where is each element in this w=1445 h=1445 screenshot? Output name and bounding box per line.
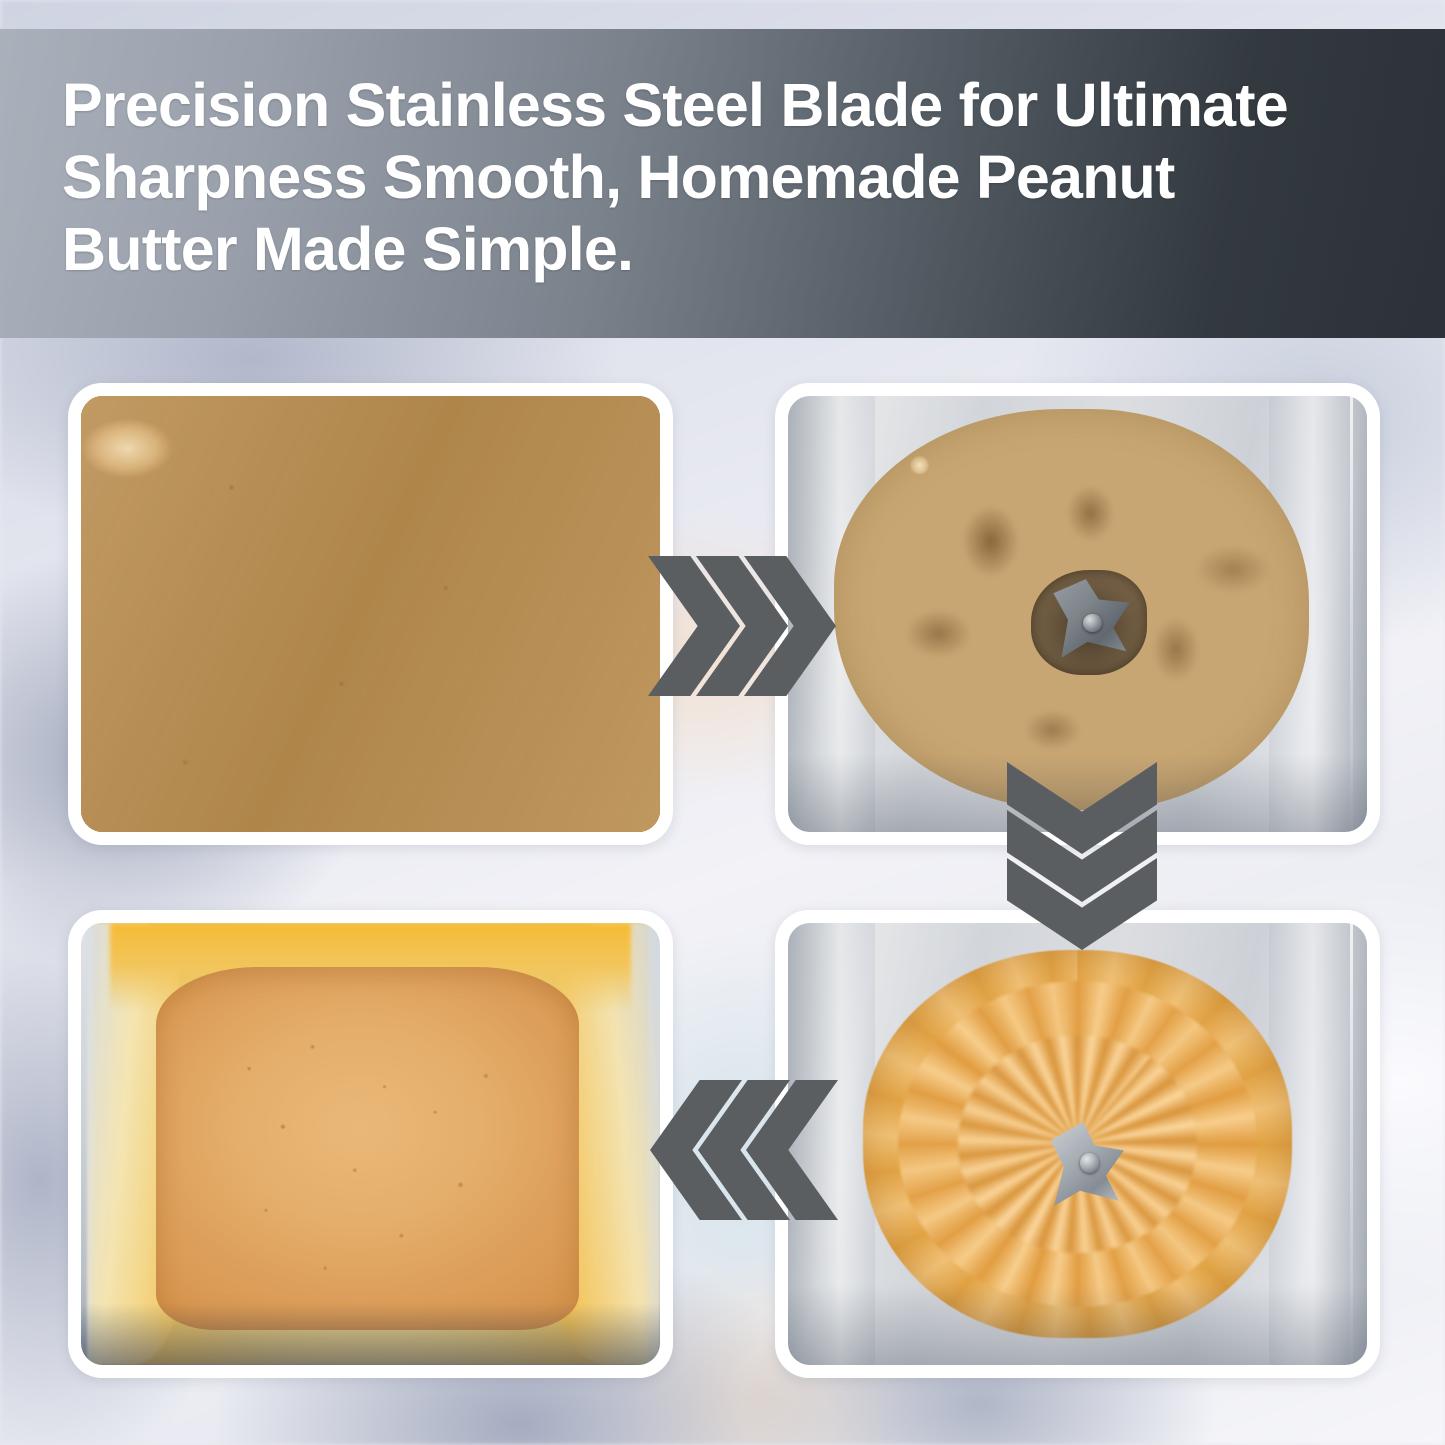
- arrow-right-icon: [648, 556, 796, 698]
- step-photo-raw-peanuts: [68, 383, 673, 845]
- blender-jar-image: [788, 923, 1367, 1365]
- step-photo-swirled-butter: [775, 910, 1380, 1378]
- headline-banner: Precision Stainless Steel Blade for Ulti…: [0, 29, 1445, 338]
- arrow-left-icon: [650, 1080, 798, 1222]
- headline-line-3: Butter Made Simple.: [62, 213, 1392, 285]
- arrow-down-icon: [1007, 762, 1157, 952]
- headline-line-1: Precision Stainless Steel Blade for Ulti…: [62, 69, 1392, 141]
- product-infographic: Precision Stainless Steel Blade for Ulti…: [0, 0, 1445, 1445]
- blade-hub-icon: [1083, 614, 1102, 632]
- raw-peanuts-image: [81, 396, 660, 832]
- photo-frame-inner: [788, 923, 1367, 1365]
- headline-line-2: Sharpness Smooth, Homemade Peanut: [62, 141, 1392, 213]
- jar-bottom-shadow: [788, 1285, 1367, 1365]
- step-photo-smooth-pour: [68, 910, 673, 1378]
- photo-frame-inner: [81, 923, 660, 1365]
- headline-text: Precision Stainless Steel Blade for Ulti…: [62, 69, 1392, 285]
- jar-base-shadow: [81, 1303, 660, 1365]
- photo-frame-inner: [81, 396, 660, 832]
- butter-pool: [156, 967, 579, 1329]
- smooth-butter-image: [81, 923, 660, 1365]
